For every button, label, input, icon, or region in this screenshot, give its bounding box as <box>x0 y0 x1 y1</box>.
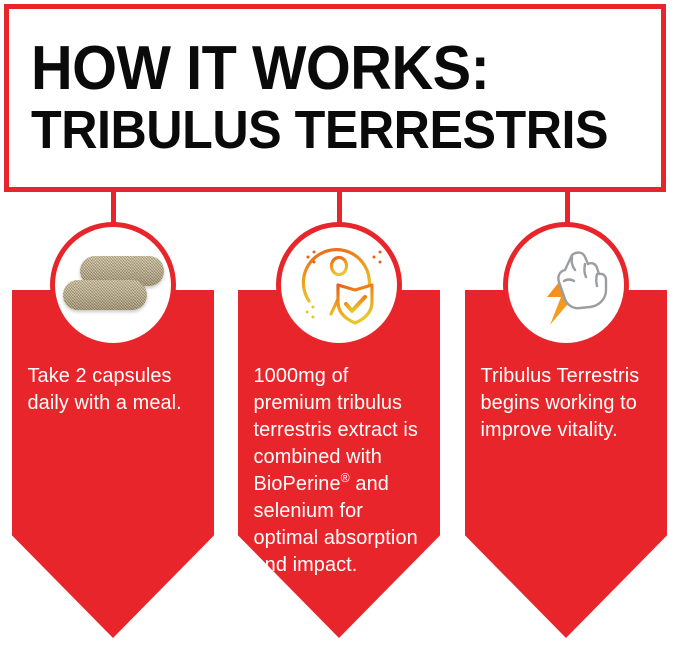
panel-capsules: Take 2 capsules daily with a meal. <box>12 222 214 649</box>
fist-shape <box>558 253 606 309</box>
fist-lightning-bolt-icon <box>503 222 629 348</box>
capsule-front <box>63 280 147 310</box>
person-shield-check-icon <box>276 222 402 348</box>
fist-lightning-graphic <box>514 233 618 337</box>
person-shield-check-graphic <box>287 233 391 337</box>
panel-text-3: Tribulus Terrestris begins working to im… <box>465 362 661 443</box>
header-banner: HOW IT WORKS: TRIBULUS TERRESTRIS <box>4 4 666 192</box>
capsules-icon <box>50 222 176 348</box>
page-title-line-1: HOW IT WORKS: <box>31 40 489 98</box>
capsules-graphic <box>61 246 165 324</box>
panel-vitality: Tribulus Terrestris begins working to im… <box>465 222 667 649</box>
registered-trademark-symbol: ® <box>341 470 350 485</box>
page-title-line-2: TRIBULUS TERRESTRIS <box>31 105 608 156</box>
panel-text-2-part-1: 1000mg of premium tribulus terrestris ex… <box>254 364 418 495</box>
panel-dosage: 1000mg of premium tribulus terrestris ex… <box>238 222 440 649</box>
panel-row: Take 2 capsules daily with a meal. <box>0 222 679 649</box>
shield-shape <box>338 285 372 323</box>
panel-text-1: Take 2 capsules daily with a meal. <box>12 362 208 416</box>
panel-text-2: 1000mg of premium tribulus terrestris ex… <box>238 362 434 578</box>
